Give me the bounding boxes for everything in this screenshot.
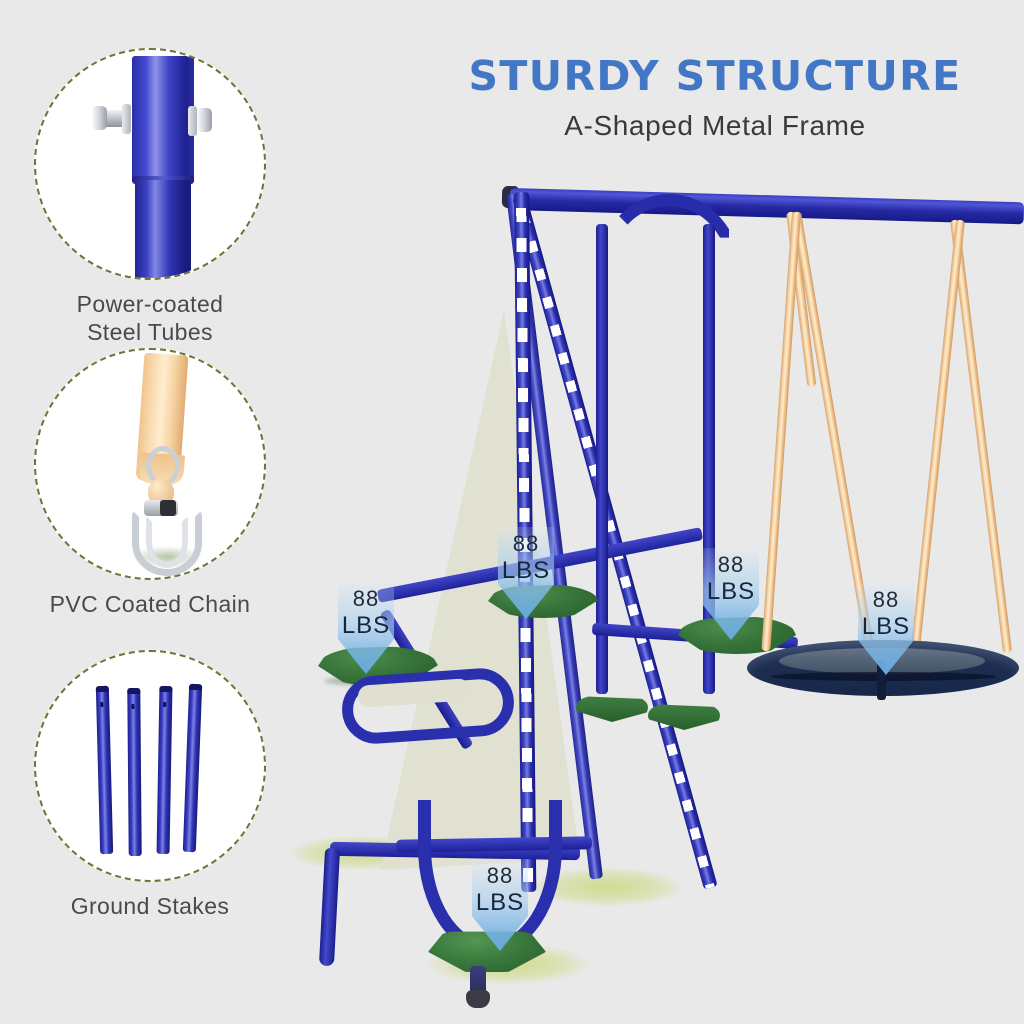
badge-number: 88 xyxy=(692,552,770,578)
capacity-badge-nest-swing: 88 LBS xyxy=(847,583,925,675)
badge-unit: LBS xyxy=(487,557,565,585)
infographic-canvas: STURDY STRUCTURE A-Shaped Metal Frame xyxy=(0,0,1024,1024)
feature-image-pvc-chain xyxy=(34,348,266,580)
badge-number: 88 xyxy=(847,587,925,613)
ground-stake-1 xyxy=(96,686,113,854)
badge-number: 88 xyxy=(487,531,565,557)
badge-number: 88 xyxy=(461,863,539,889)
spinner-tip xyxy=(466,990,490,1008)
badge-unit: LBS xyxy=(847,613,925,641)
feature-caption-pvc-chain: PVC Coated Chain xyxy=(10,590,290,618)
page-subtitle: A-Shaped Metal Frame xyxy=(430,110,1000,142)
capacity-badge-spinner: 88 LBS xyxy=(461,859,539,951)
feature-image-ground-stakes xyxy=(34,650,266,882)
pvc-chain-4 xyxy=(950,219,1012,653)
glider-footrest-left xyxy=(576,696,648,722)
feature-caption-steel-tubes: Power-coated Steel Tubes xyxy=(10,290,290,346)
tube-lower-section xyxy=(135,180,191,280)
feature-caption-line2: Steel Tubes xyxy=(87,319,213,345)
capacity-badge-right-seat: 88 LBS xyxy=(692,548,770,640)
feature-power-coated-steel-tubes: Power-coated Steel Tubes xyxy=(10,48,290,346)
feature-caption-line1: Power-coated xyxy=(77,291,224,317)
ground-stake-4 xyxy=(183,684,202,852)
headline-block: STURDY STRUCTURE A-Shaped Metal Frame xyxy=(430,55,1000,142)
feature-image-steel-tube xyxy=(34,48,266,280)
capacity-badge-left-glider: 88 LBS xyxy=(327,582,405,674)
feature-ground-stakes: Ground Stakes xyxy=(10,650,290,920)
capacity-badge-upper-seat: 88 LBS xyxy=(487,527,565,619)
feature-caption-line1: Ground Stakes xyxy=(71,893,230,919)
steel-tube-illustration xyxy=(36,50,264,278)
ground-stake-3 xyxy=(157,686,173,854)
product-photo-swing-set xyxy=(300,160,1024,990)
feature-pvc-coated-chain: PVC Coated Chain xyxy=(10,348,290,618)
tube-upper-section xyxy=(132,56,194,184)
badge-unit: LBS xyxy=(692,578,770,606)
page-title: STURDY STRUCTURE xyxy=(430,55,1000,98)
pvc-chain-2 xyxy=(792,211,873,646)
ground-stake-2 xyxy=(127,688,141,856)
feature-caption-line1: PVC Coated Chain xyxy=(50,591,251,617)
badge-unit: LBS xyxy=(461,889,539,917)
top-beam xyxy=(510,188,1024,224)
carabiner-hook-inner xyxy=(146,516,188,568)
badge-unit: LBS xyxy=(327,612,405,640)
feature-caption-ground-stakes: Ground Stakes xyxy=(10,892,290,920)
badge-number: 88 xyxy=(327,586,405,612)
